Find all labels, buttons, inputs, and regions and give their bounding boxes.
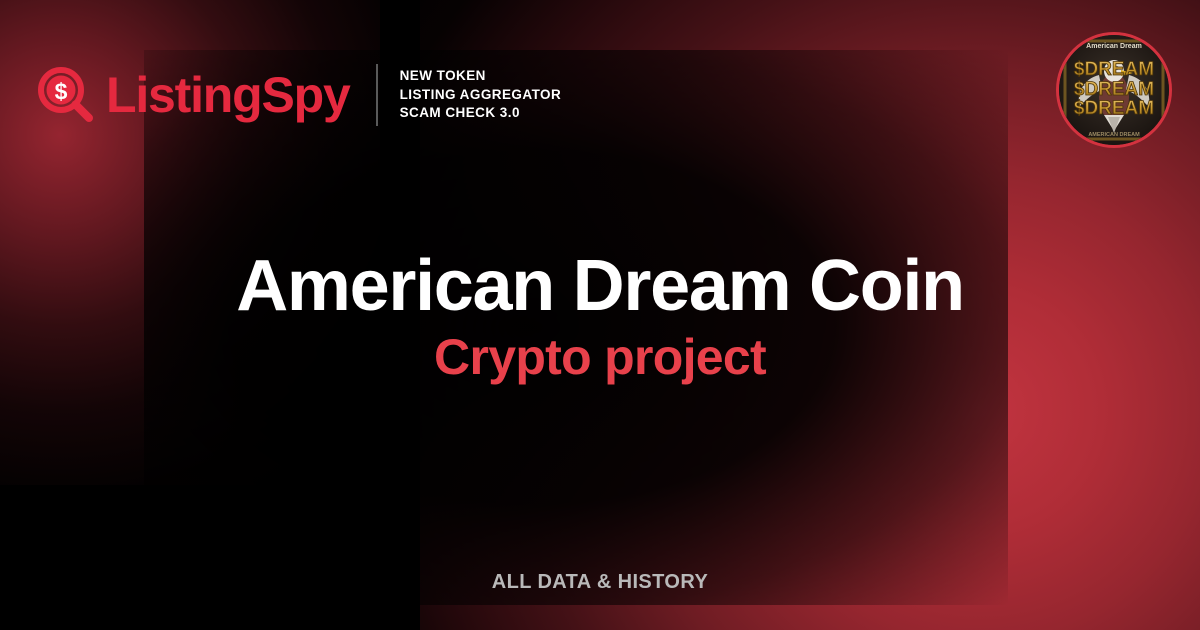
page-subtitle: Crypto project [0, 330, 1200, 385]
header: $ ListingSpy NEW TOKEN LISTING AGGREGATO… [38, 54, 561, 136]
page-title: American Dream Coin [0, 248, 1200, 324]
header-divider [376, 64, 378, 126]
badge-top-label-text: American Dream [1086, 43, 1142, 50]
og-share-card: $ ListingSpy NEW TOKEN LISTING AGGREGATO… [0, 0, 1200, 630]
tagline-line-3: SCAM CHECK 3.0 [400, 105, 562, 121]
tagline-line-2: LISTING AGGREGATOR [400, 87, 562, 103]
svg-text:$DREAM: $DREAM [1074, 79, 1154, 100]
brand-tagline: NEW TOKEN LISTING AGGREGATOR SCAM CHECK … [400, 68, 562, 121]
magnifier-dollar-icon: $ [38, 67, 94, 123]
brand-logo[interactable]: $ ListingSpy [38, 67, 350, 123]
token-logo-badge[interactable]: American Dream $DREAM $DREAM $DREAM AMER… [1056, 32, 1172, 148]
svg-text:$DREAM: $DREAM [1074, 59, 1154, 80]
tagline-line-1: NEW TOKEN [400, 68, 562, 84]
svg-text:$: $ [55, 79, 68, 105]
svg-text:$DREAM: $DREAM [1074, 98, 1154, 119]
footer-note: ALL DATA & HISTORY [0, 571, 1200, 594]
american-dream-token-logo-icon: American Dream $DREAM $DREAM $DREAM AMER… [1059, 35, 1169, 145]
hero-block: American Dream Coin Crypto project [0, 248, 1200, 385]
svg-text:AMERICAN DREAM: AMERICAN DREAM [1088, 132, 1140, 138]
brand-wordmark: ListingSpy [106, 70, 350, 120]
